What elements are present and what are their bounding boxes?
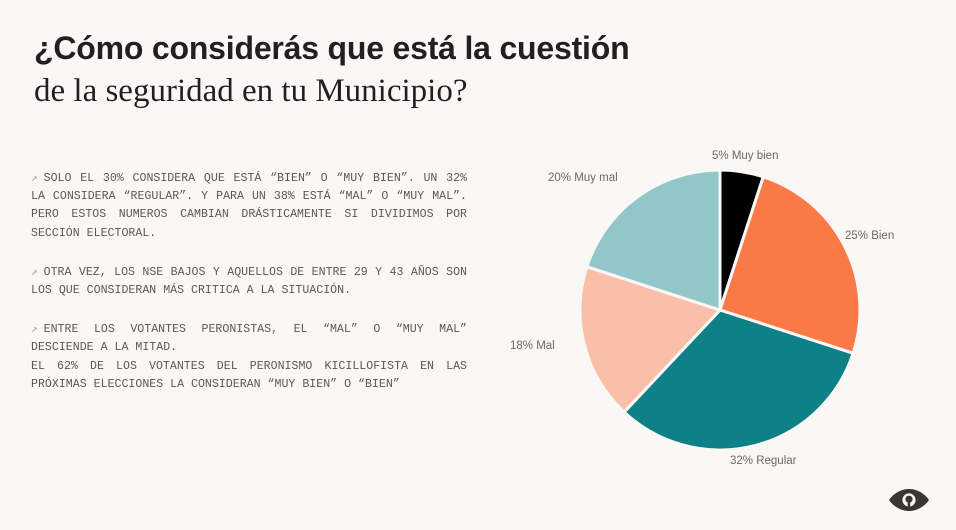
pie-label-bien: 25% Bien xyxy=(845,230,894,242)
pie-slice-group xyxy=(580,170,860,450)
eye-logo xyxy=(888,487,930,513)
pie-label-muy-mal: 20% Muy mal xyxy=(548,172,618,184)
slide-root: ¿Cómo considerás que está la cuestión de… xyxy=(0,0,956,530)
arrow-up-right-icon: ↗ xyxy=(31,321,38,339)
pie-chart-svg xyxy=(490,130,950,490)
pie-label-muy-bien: 5% Muy bien xyxy=(712,150,778,162)
title-line-1: ¿Cómo considerás que está la cuestión xyxy=(34,28,694,68)
insight-text-3-continuation: EL 62% DE LOS VOTANTES DEL PERONISMO KIC… xyxy=(31,358,467,394)
insight-item-1: ↗SOLO EL 30% CONSIDERA QUE ESTÁ “BIEN” O… xyxy=(31,170,467,243)
title-line-2: de la seguridad en tu Municipio? xyxy=(34,70,694,112)
pie-label-mal: 18% Mal xyxy=(510,340,555,352)
insight-text-2: OTRA VEZ, LOS NSE BAJOS Y AQUELLOS DE EN… xyxy=(31,266,467,297)
insight-item-3: ↗ENTRE LOS VOTANTES PERONISTAS, EL “MAL”… xyxy=(31,321,467,394)
page-title: ¿Cómo considerás que está la cuestión de… xyxy=(34,28,694,112)
insight-text-1: SOLO EL 30% CONSIDERA QUE ESTÁ “BIEN” O … xyxy=(31,172,467,240)
arrow-up-right-icon: ↗ xyxy=(31,264,38,282)
insight-item-2: ↗OTRA VEZ, LOS NSE BAJOS Y AQUELLOS DE E… xyxy=(31,264,467,300)
pie-chart: 5% Muy bien 25% Bien 32% Regular 18% Mal… xyxy=(490,130,950,490)
insight-text-3: ENTRE LOS VOTANTES PERONISTAS, EL “MAL” … xyxy=(31,323,467,354)
arrow-up-right-icon: ↗ xyxy=(31,170,38,188)
insights-column: ↗SOLO EL 30% CONSIDERA QUE ESTÁ “BIEN” O… xyxy=(31,170,467,394)
eye-logo-icon xyxy=(888,487,930,513)
pie-label-regular: 32% Regular xyxy=(730,455,796,467)
